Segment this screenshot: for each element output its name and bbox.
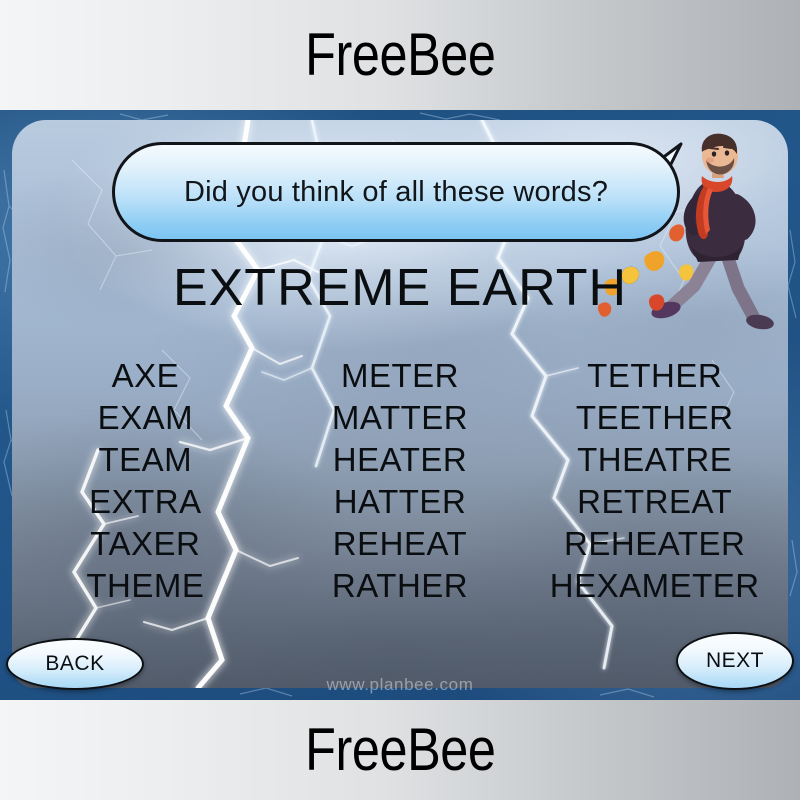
next-button[interactable]: NEXT [676,632,794,690]
speech-bubble: Did you think of all these words? [112,142,692,254]
word-item: TAXER [90,523,200,565]
speech-bubble-text: Did you think of all these words? [184,176,608,209]
slide-title-text: EXTREME EARTH [173,259,627,317]
bottom-brand-title: FreeBee [305,720,495,780]
word-item: TEETHER [576,397,734,439]
top-brand-title: FreeBee [305,25,495,85]
word-column-1: AXE EXAM TEAM EXTRA TAXER THEME [18,355,273,607]
freebee-slide-page: FreeBee [0,0,800,800]
word-item: THEME [86,565,204,607]
word-item: TETHER [587,355,722,397]
word-item: HEXAMETER [550,565,760,607]
word-column-2: METER MATTER HEATER HATTER REHEAT RATHER [273,355,528,607]
word-item: THEATRE [577,439,732,481]
word-item: RETREAT [577,481,732,523]
word-item: REHEAT [333,523,467,565]
word-item: RATHER [332,565,468,607]
word-item: EXTRA [89,481,202,523]
word-column-3: TETHER TEETHER THEATRE RETREAT REHEATER … [527,355,782,607]
top-brand-band: FreeBee [0,0,800,110]
back-button-label: BACK [45,652,104,676]
speech-bubble-body: Did you think of all these words? [112,142,680,242]
bottom-brand-band: FreeBee [0,700,800,800]
word-item: MATTER [332,397,468,439]
word-item: AXE [112,355,180,397]
word-item: TEAM [99,439,193,481]
back-button[interactable]: BACK [6,638,144,690]
next-button-label: NEXT [706,649,764,673]
word-list: AXE EXAM TEAM EXTRA TAXER THEME METER MA… [18,355,782,607]
word-item: EXAM [98,397,194,439]
word-item: REHEATER [564,523,745,565]
word-item: HATTER [334,481,467,523]
word-item: METER [341,355,459,397]
slide-title: EXTREME EARTH [0,258,800,318]
word-item: HEATER [333,439,467,481]
slide-canvas: Did you think of all these words? EXTREM… [0,110,800,700]
watermark-text: www.planbee.com [327,675,474,694]
